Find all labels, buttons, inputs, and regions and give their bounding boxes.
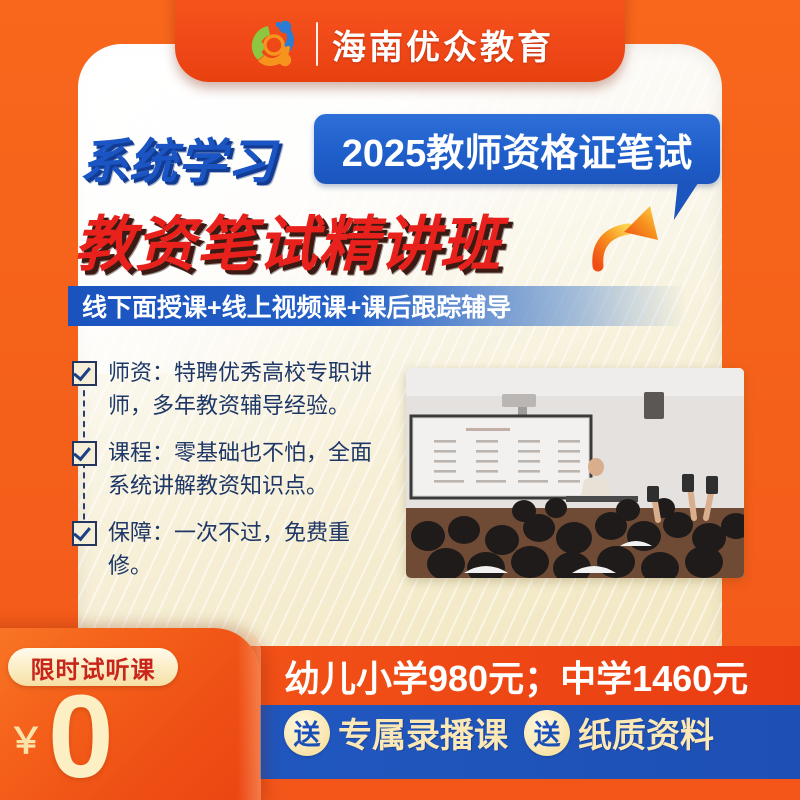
gift-list: 送 专属录播课 送 纸质资料 bbox=[284, 708, 714, 757]
gift-item: 送 纸质资料 bbox=[524, 708, 714, 757]
headline-row: 系统学习 2025教师资格证笔试 bbox=[80, 120, 720, 192]
list-item: 师资：特聘优秀高校专职讲师，多年教资辅导经验。 bbox=[72, 356, 402, 422]
classroom-lecture-photo bbox=[406, 368, 744, 578]
gift-item: 送 专属录播课 bbox=[284, 708, 508, 757]
headline-lead: 系统学习 bbox=[80, 122, 276, 192]
list-item-label: 师资：特聘优秀高校专职讲师，多年教资辅导经验。 bbox=[108, 356, 386, 422]
checkbox-checked-icon bbox=[72, 441, 97, 466]
currency-symbol: ￥ bbox=[8, 712, 44, 764]
subtitle-text: 线下面授课+线上视频课+课后跟踪辅导 bbox=[82, 288, 511, 324]
list-item: 课程：零基础也不怕，全面系统讲解教资知识点。 bbox=[72, 436, 402, 502]
price-amount: 0 bbox=[48, 678, 114, 796]
price-card: 限时试听课 ￥ 0 bbox=[0, 628, 260, 800]
three-people-circle-logo-icon bbox=[246, 16, 302, 72]
gift-label: 专属录播课 bbox=[338, 708, 508, 757]
feature-list: 师资：特聘优秀高校专职讲师，多年教资辅导经验。 课程：零基础也不怕，全面系统讲解… bbox=[72, 356, 402, 596]
checkbox-checked-icon bbox=[72, 361, 97, 386]
headline-badge: 2025教师资格证笔试 bbox=[314, 114, 720, 184]
curved-up-arrow-icon bbox=[588, 196, 674, 272]
brand-name: 海南优众教育 bbox=[332, 20, 554, 69]
subtitle-band: 线下面授课+线上视频课+课后跟踪辅导 bbox=[68, 286, 686, 326]
page-title: 教资笔试精讲班 bbox=[74, 196, 501, 283]
promo-poster: 海南优众教育 系统学习 2025教师资格证笔试 教资笔试精讲班 线下面授课+线上… bbox=[0, 0, 800, 800]
logo-divider bbox=[316, 22, 318, 66]
gift-badge-icon: 送 bbox=[284, 710, 330, 756]
header-inner: 海南优众教育 bbox=[246, 16, 554, 72]
list-item-label: 保障：一次不过，免费重修。 bbox=[108, 516, 386, 582]
price-line-text: 幼儿小学980元；中学1460元 bbox=[284, 650, 748, 702]
checkbox-checked-icon bbox=[72, 521, 97, 546]
header-banner: 海南优众教育 bbox=[175, 0, 625, 82]
list-item-label: 课程：零基础也不怕，全面系统讲解教资知识点。 bbox=[108, 436, 386, 502]
gift-label: 纸质资料 bbox=[578, 708, 714, 757]
list-item: 保障：一次不过，免费重修。 bbox=[72, 516, 402, 582]
headline-badge-label: 2025教师资格证笔试 bbox=[342, 122, 693, 177]
gift-badge-icon: 送 bbox=[524, 710, 570, 756]
headline-badge-tail bbox=[674, 180, 710, 220]
